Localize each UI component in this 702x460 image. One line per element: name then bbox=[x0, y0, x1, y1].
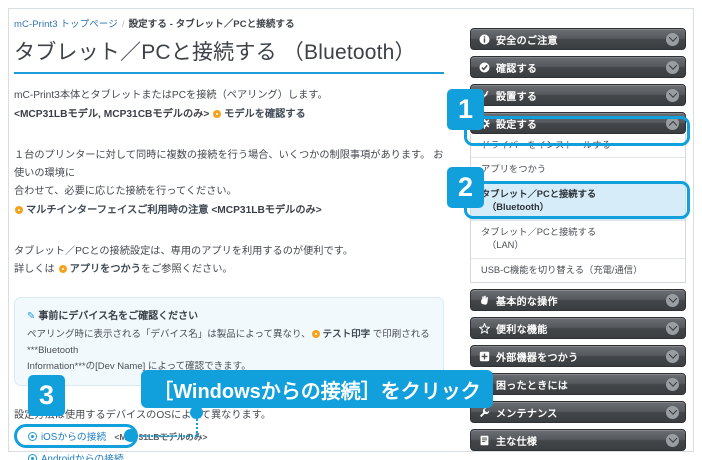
sidebar-item-label: 便利な機能 bbox=[496, 321, 666, 336]
sidebar-item-label: 設定する bbox=[496, 116, 666, 131]
sidebar-subitem-label: タブレット／PCと接続する bbox=[481, 189, 596, 199]
connector-horizontal-dotted bbox=[128, 435, 197, 437]
sidebar-item-label: メンテナンス bbox=[496, 405, 666, 420]
chevron-down-icon[interactable] bbox=[666, 406, 679, 419]
check-circle-icon bbox=[479, 62, 490, 73]
sidebar-subitem-label2: （LAN） bbox=[481, 239, 677, 252]
breadcrumb-current: 設定する - タブレット／PCと接続する bbox=[129, 19, 295, 30]
sidebar-sublist-settings: ドライバーをインストールする アプリをつかう タブレット／PCと接続する （Bl… bbox=[470, 134, 686, 283]
chevron-down-icon[interactable] bbox=[666, 434, 679, 447]
orange-bullet-icon bbox=[312, 330, 320, 338]
sidebar-item-label: 外部機器をつかう bbox=[496, 349, 666, 364]
chevron-down-icon[interactable] bbox=[666, 322, 679, 335]
sidebar-item-setup[interactable]: 設置する bbox=[470, 84, 686, 106]
app-paragraph: タブレット／PCとの接続設定は、専用のアプリを利用するのが便利です。 詳しくは … bbox=[14, 243, 444, 279]
breadcrumb-separator: / bbox=[122, 19, 125, 30]
model-note-line: <MCP31LBモデル, MCP31CBモデルのみ> モデルを確認する bbox=[14, 106, 444, 123]
screenshot-root: mC-Print3 トップページ/設定する - タブレット／PCと接続する タブ… bbox=[0, 0, 702, 460]
app-line-2: 詳しくは アプリをつかうをご参照ください。 bbox=[14, 261, 444, 279]
note-body: ペアリング時に表示される「デバイス名」は製品によって異なり、テスト印字 で印刷さ… bbox=[27, 327, 431, 375]
intro-paragraph: mC-Print3本体とタブレットまたはPCを接続（ペアリング）します。 bbox=[14, 87, 444, 105]
blue-bullet-icon bbox=[28, 454, 37, 460]
breadcrumb-home-link[interactable]: mC-Print3 トップページ bbox=[14, 19, 118, 30]
hand-icon bbox=[479, 295, 490, 306]
sidebar-subitem-label: アプリをつかう bbox=[481, 164, 546, 174]
os-item-label: Androidからの接続 bbox=[41, 454, 124, 460]
app-use-link[interactable]: アプリをつかう bbox=[70, 264, 141, 275]
plus-box-icon bbox=[479, 351, 490, 362]
sidebar-item-label: 確認する bbox=[496, 60, 666, 75]
sidebar-subitem-usbc[interactable]: USB-C機能を切り替える（充電/通信） bbox=[471, 258, 685, 282]
step-badge-1: 1 bbox=[447, 89, 484, 130]
app-prefix: 詳しくは bbox=[14, 264, 55, 275]
callout-windows-click: ［Windowsからの接続］をクリック bbox=[141, 370, 493, 408]
sidebar-item-external-devices[interactable]: 外部機器をつかう bbox=[470, 345, 686, 367]
os-lead-text: 設定方法は使用するデバイスのOSによって異なります。 bbox=[14, 406, 444, 421]
connector-vertical-dotted bbox=[196, 416, 198, 436]
orange-bullet-icon bbox=[213, 110, 221, 118]
step-badge-2: 2 bbox=[447, 167, 484, 208]
document-icon bbox=[479, 435, 490, 446]
breadcrumb: mC-Print3 トップページ/設定する - タブレット／PCと接続する bbox=[14, 10, 444, 30]
sidebar-item-label: 基本的な操作 bbox=[496, 293, 666, 308]
multi-interface-paragraph: １台のプリンターに対して同時に複数の接続を行う場合、いくつかの制限事項があります… bbox=[14, 147, 444, 201]
test-print-link[interactable]: テスト印字 bbox=[323, 329, 371, 340]
chevron-down-icon[interactable] bbox=[666, 378, 679, 391]
os-list-item-android[interactable]: Androidからの接続 bbox=[28, 449, 444, 460]
sidebar-item-label: 設置する bbox=[496, 88, 666, 103]
sidebar-item-maintenance[interactable]: メンテナンス bbox=[470, 401, 686, 423]
sidebar-item-settings[interactable]: 設定する bbox=[470, 112, 686, 134]
sidebar-subitem-label2: （Bluetooth） bbox=[481, 201, 677, 214]
multi-interface-suffix: <MCP31LBモデルのみ> bbox=[211, 205, 321, 216]
wrench-icon bbox=[479, 407, 490, 418]
pill-anchor-dot bbox=[124, 429, 137, 442]
sidebar-subitem-label: ドライバーをインストールする bbox=[481, 140, 611, 150]
page-title: タブレット／PCと接続する （Bluetooth） bbox=[14, 40, 444, 74]
chevron-down-icon[interactable] bbox=[666, 61, 679, 74]
spacer bbox=[14, 219, 444, 230]
sidebar-item-label: 困ったときには bbox=[496, 377, 666, 392]
sidebar-nav: 安全のご注意 確認する 設置する bbox=[470, 28, 686, 457]
sidebar-subitem-driver[interactable]: ドライバーをインストールする bbox=[471, 134, 685, 157]
sidebar-subitem-bluetooth[interactable]: タブレット／PCと接続する （Bluetooth） bbox=[471, 182, 685, 220]
step-badge-3: 3 bbox=[28, 375, 65, 416]
sidebar-item-troubleshooting[interactable]: ? 困ったときには bbox=[470, 373, 686, 395]
callout-text: ［Windowsからの接続］をクリック bbox=[153, 375, 481, 404]
sidebar-subitem-label: USB-C機能を切り替える（充電/通信） bbox=[481, 265, 642, 275]
multi-interface-link[interactable]: マルチインターフェイスご利用時の注意 bbox=[26, 205, 208, 216]
sidebar-subitem-app[interactable]: アプリをつかう bbox=[471, 157, 685, 181]
sidebar-item-check[interactable]: 確認する bbox=[470, 56, 686, 78]
note-line-1a: ペアリング時に表示される「デバイス名」は製品によって異なり、 bbox=[27, 329, 311, 340]
note-title-row: ✎事前にデバイス名をご確認ください bbox=[27, 307, 431, 322]
app-suffix: をご参照ください。 bbox=[141, 264, 233, 275]
spacer bbox=[14, 123, 444, 134]
app-line-1: タブレット／PCとの接続設定は、専用のアプリを利用するのが便利です。 bbox=[14, 243, 444, 261]
sidebar-item-label: 安全のご注意 bbox=[496, 32, 666, 47]
sidebar-subitem-label: タブレット／PCと接続する bbox=[481, 227, 596, 237]
multi-interface-link-line: マルチインターフェイスご利用時の注意 <MCP31LBモデルのみ> bbox=[14, 202, 444, 219]
chevron-up-icon[interactable] bbox=[666, 117, 679, 130]
note-title: 事前にデバイス名をご確認ください bbox=[38, 311, 198, 322]
chevron-down-icon[interactable] bbox=[666, 89, 679, 102]
intro-line-1: mC-Print3本体とタブレットまたはPCを接続（ペアリング）します。 bbox=[14, 90, 328, 101]
star-icon bbox=[479, 323, 490, 334]
sidebar-item-label: 主な仕様 bbox=[496, 433, 666, 448]
sidebar-item-safety[interactable]: 安全のご注意 bbox=[470, 28, 686, 50]
model-prefix: <MCP31LBモデル, MCP31CBモデルのみ> bbox=[14, 109, 209, 120]
sidebar-item-basic-operation[interactable]: 基本的な操作 bbox=[470, 289, 686, 311]
multi-line-1: １台のプリンターに対して同時に複数の接続を行う場合、いくつかの制限事項があります… bbox=[14, 147, 444, 183]
highlight-pill-windows-link bbox=[14, 424, 138, 448]
sidebar-item-useful-features[interactable]: 便利な機能 bbox=[470, 317, 686, 339]
multi-line-2: 合わせて、必要に応じた接続を行ってください。 bbox=[14, 183, 444, 201]
model-check-link[interactable]: モデルを確認する bbox=[224, 109, 306, 120]
orange-bullet-icon bbox=[59, 265, 67, 273]
chevron-down-icon[interactable] bbox=[666, 350, 679, 363]
chevron-down-icon[interactable] bbox=[666, 294, 679, 307]
pencil-icon: ✎ bbox=[27, 311, 35, 322]
sidebar-item-specifications[interactable]: 主な仕様 bbox=[470, 429, 686, 451]
orange-bullet-icon bbox=[15, 206, 23, 214]
sidebar-subitem-lan[interactable]: タブレット／PCと接続する （LAN） bbox=[471, 220, 685, 258]
chevron-down-icon[interactable] bbox=[666, 33, 679, 46]
info-icon bbox=[479, 34, 490, 45]
